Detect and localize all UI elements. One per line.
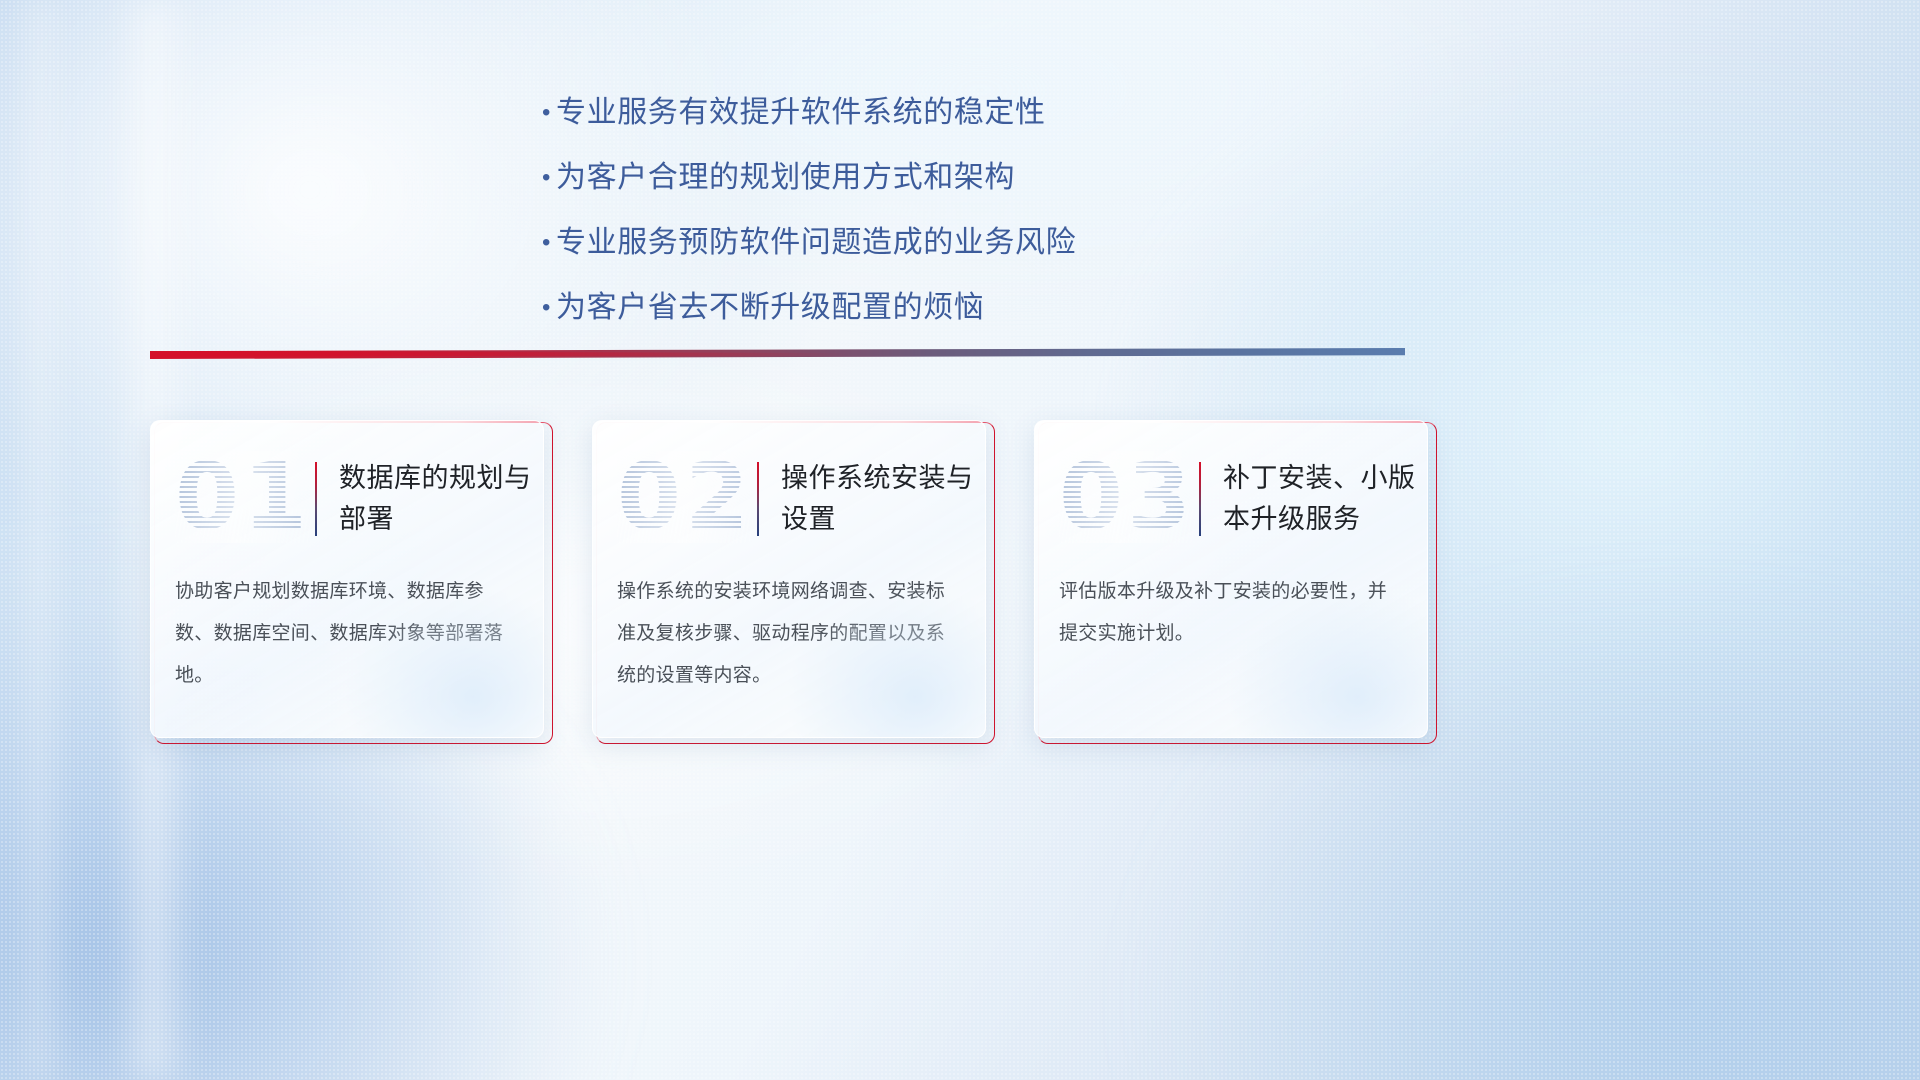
list-item: • 为客户省去不断升级配置的烦恼 xyxy=(530,283,1290,333)
card-header: 03 补丁安装、小版本升级服务 xyxy=(1035,421,1427,551)
card-header: 01 数据库的规划与部署 xyxy=(151,421,543,551)
card-title-rule xyxy=(1199,462,1201,536)
card-description: 协助客户规划数据库环境、数据库参数、数据库空间、数据库对象等部署落地。 xyxy=(151,551,543,697)
service-card-row: 01 数据库的规划与部署 协助客户规划数据库环境、数据库参数、数据库空间、数据库… xyxy=(150,420,1433,742)
card-title-rule xyxy=(315,462,317,536)
card-surface: 03 补丁安装、小版本升级服务 评估版本升级及补丁安装的必要性，并提交实施计划。 xyxy=(1034,420,1428,738)
card-surface: 01 数据库的规划与部署 协助客户规划数据库环境、数据库参数、数据库空间、数据库… xyxy=(150,420,544,738)
bullet-text: 为客户省去不断升级配置的烦恼 xyxy=(556,283,984,333)
bullet-text: 为客户合理的规划使用方式和架构 xyxy=(556,153,1015,203)
bullet-text: 专业服务有效提升软件系统的稳定性 xyxy=(556,88,1046,138)
bullet-dot-icon: • xyxy=(530,88,556,138)
card-title: 补丁安装、小版本升级服务 xyxy=(1223,458,1427,540)
list-item: • 专业服务有效提升软件系统的稳定性 xyxy=(530,88,1290,138)
card-number-watermark: 02 xyxy=(617,451,753,543)
card-title-rule xyxy=(757,462,759,536)
card-number-watermark: 01 xyxy=(175,451,311,543)
bullet-dot-icon: • xyxy=(530,153,556,203)
bullet-dot-icon: • xyxy=(530,283,556,333)
bullet-text: 专业服务预防软件问题造成的业务风险 xyxy=(556,218,1076,268)
bullet-dot-icon: • xyxy=(530,218,556,268)
benefits-bullet-list: • 专业服务有效提升软件系统的稳定性 • 为客户合理的规划使用方式和架构 • 专… xyxy=(530,88,1290,348)
card-description: 评估版本升级及补丁安装的必要性，并提交实施计划。 xyxy=(1035,551,1427,655)
card-title: 操作系统安装与设置 xyxy=(781,458,985,540)
gradient-accent-line xyxy=(150,344,1405,366)
service-card[interactable]: 03 补丁安装、小版本升级服务 评估版本升级及补丁安装的必要性，并提交实施计划。 xyxy=(1034,420,1433,742)
card-title: 数据库的规划与部署 xyxy=(339,458,543,540)
card-description: 操作系统的安装环境网络调查、安装标准及复核步骤、驱动程序的配置以及系统的设置等内… xyxy=(593,551,985,697)
service-card[interactable]: 02 操作系统安装与设置 操作系统的安装环境网络调查、安装标准及复核步骤、驱动程… xyxy=(592,420,991,742)
list-item: • 专业服务预防软件问题造成的业务风险 xyxy=(530,218,1290,268)
card-number-watermark: 03 xyxy=(1059,451,1195,543)
card-surface: 02 操作系统安装与设置 操作系统的安装环境网络调查、安装标准及复核步骤、驱动程… xyxy=(592,420,986,738)
list-item: • 为客户合理的规划使用方式和架构 xyxy=(530,153,1290,203)
card-header: 02 操作系统安装与设置 xyxy=(593,421,985,551)
service-card[interactable]: 01 数据库的规划与部署 协助客户规划数据库环境、数据库参数、数据库空间、数据库… xyxy=(150,420,549,742)
